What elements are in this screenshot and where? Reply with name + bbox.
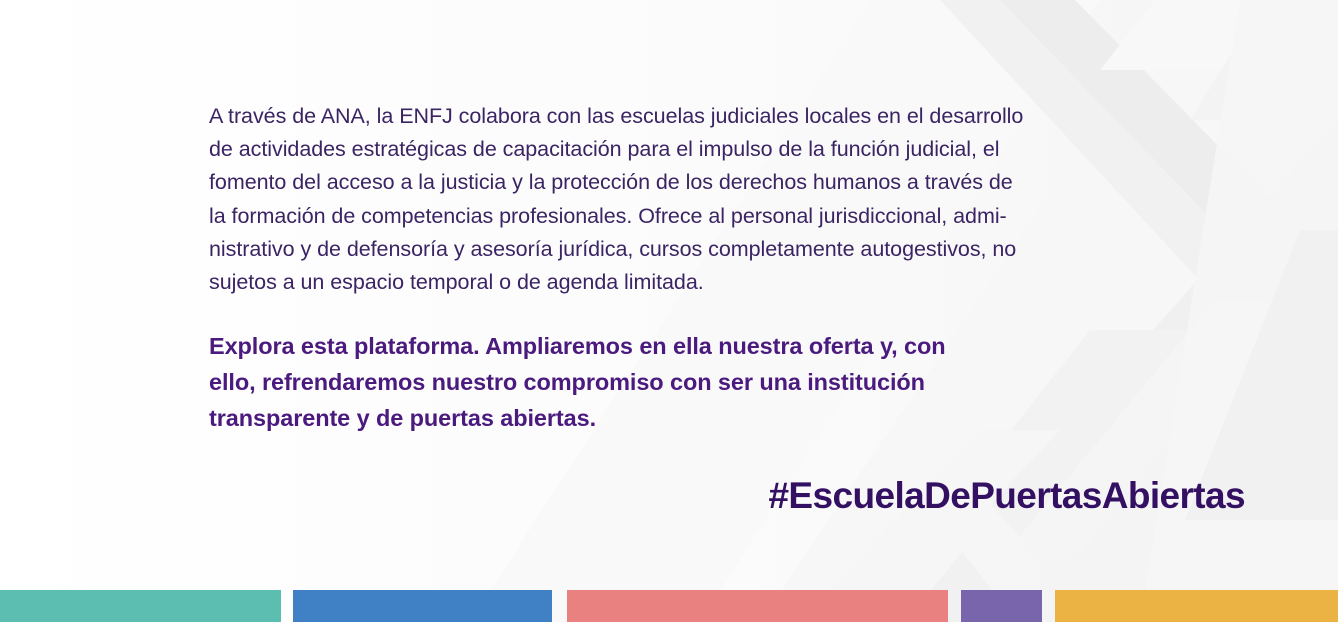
color-bar-segment-salmon [567, 590, 948, 622]
slide-canvas: A través de ANA, la ENFJ colabora con la… [0, 0, 1338, 622]
color-bar-segment-amber [1055, 590, 1338, 622]
color-bar-segment-teal [0, 590, 281, 622]
text-content: A través de ANA, la ENFJ colabora con la… [209, 100, 1169, 436]
color-bar-segment-purple [961, 590, 1042, 622]
hashtag-text: #EscuelaDePuertasAbiertas [209, 474, 1245, 518]
body-paragraph: A través de ANA, la ENFJ colabora con la… [209, 100, 1169, 299]
color-bar-segment-blue [293, 590, 552, 622]
bottom-color-bar [0, 590, 1338, 622]
callout-paragraph: Explora esta plataforma. Ampliaremos en … [209, 328, 1169, 436]
